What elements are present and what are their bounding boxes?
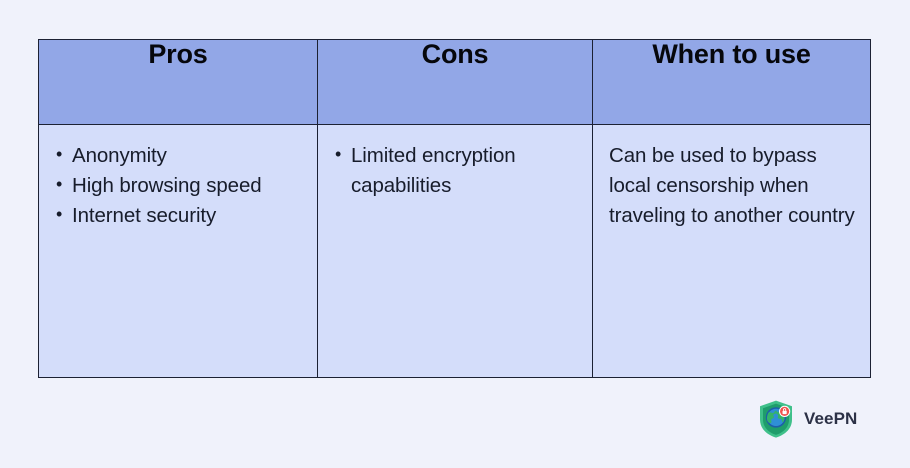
list-item: Anonymity [53, 141, 303, 171]
list-item: High browsing speed [53, 171, 303, 201]
table-row: Anonymity High browsing speed Internet s… [39, 125, 871, 378]
cons-bullet-list: Limited encryption capabilities [332, 141, 578, 201]
cell-cons-content: Limited encryption capabilities [318, 125, 592, 201]
comparison-table: Pros Cons When to use Anonymity High bro… [38, 39, 871, 378]
table-body: Anonymity High browsing speed Internet s… [39, 125, 871, 378]
table-header-row: Pros Cons When to use [39, 40, 871, 125]
column-header-cons: Cons [318, 40, 593, 125]
column-header-pros-label: Pros [39, 40, 317, 70]
when-to-use-text: Can be used to bypass local censorship w… [609, 141, 858, 231]
cell-when-to-use-content: Can be used to bypass local censorship w… [593, 125, 870, 231]
list-item: Internet security [53, 201, 303, 231]
brand-wordmark: VeePN [804, 409, 857, 429]
list-item: Limited encryption capabilities [332, 141, 578, 201]
cell-when-to-use: Can be used to bypass local censorship w… [593, 125, 871, 378]
cell-pros: Anonymity High browsing speed Internet s… [39, 125, 318, 378]
cell-cons: Limited encryption capabilities [318, 125, 593, 378]
pros-bullet-list: Anonymity High browsing speed Internet s… [53, 141, 303, 231]
brand-logo: VeePN [757, 399, 857, 439]
column-header-when-to-use: When to use [593, 40, 871, 125]
table-header-row-group: Pros Cons When to use [39, 40, 871, 125]
column-header-when-to-use-label: When to use [593, 40, 870, 70]
shield-globe-lock-icon [757, 399, 795, 439]
cell-pros-content: Anonymity High browsing speed Internet s… [39, 125, 317, 231]
column-header-pros: Pros [39, 40, 318, 125]
column-header-cons-label: Cons [318, 40, 592, 70]
